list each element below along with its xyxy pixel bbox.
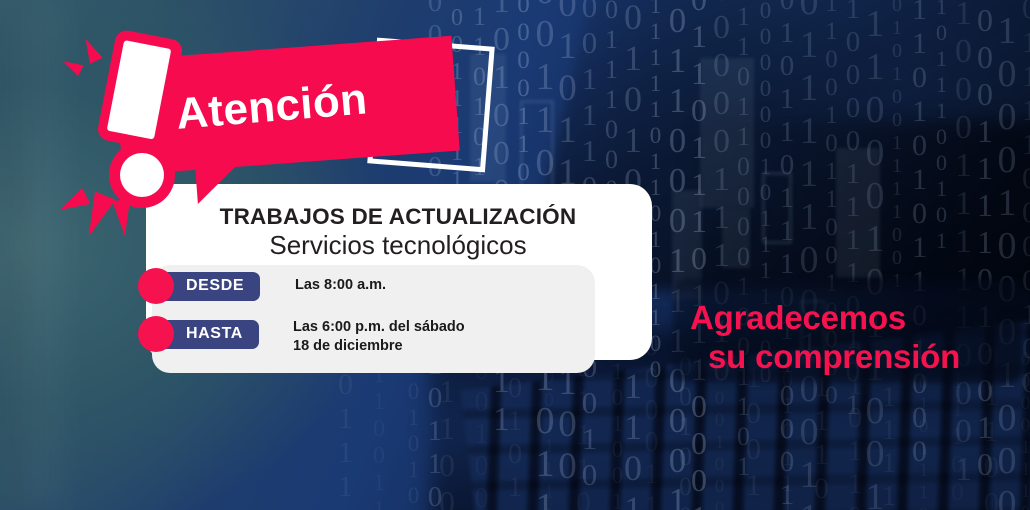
badge-desde-label: DESDE <box>186 277 244 295</box>
background-lightbox-outline-2 <box>762 172 792 244</box>
card-title-line2: Servicios tecnológicos <box>188 230 608 260</box>
card-title-line1: TRABAJOS DE ACTUALIZACIÓN <box>188 204 608 230</box>
exclamation-dot <box>109 142 175 208</box>
schedule-row-desde: DESDE <box>138 268 260 304</box>
schedule-value-hasta-line2: 18 de diciembre <box>293 337 465 356</box>
background-lightbox-2 <box>700 58 754 208</box>
schedule-row-hasta: HASTA <box>138 316 259 352</box>
thanks-message-line1: Agradecemos <box>690 299 906 336</box>
thanks-message-line2: su comprensión <box>708 337 1020 376</box>
attention-banner: 1000000110101011011100000111111011111111… <box>0 0 1030 510</box>
exclamation-bar-inner <box>107 40 172 139</box>
exclamation-mark-icon <box>88 34 218 209</box>
badge-hasta-label: HASTA <box>186 325 243 343</box>
exclamation-dot-inner <box>120 153 164 197</box>
background-lightbox-4 <box>722 208 750 268</box>
exclamation-bar <box>96 29 184 152</box>
background-lightbox-outline-1 <box>520 100 554 192</box>
burst-ray-bottom-3 <box>112 199 134 237</box>
schedule-value-hasta: Las 6:00 p.m. del sábado 18 de diciembre <box>293 318 465 356</box>
thanks-message: Agradecemos su comprensión <box>690 298 1020 376</box>
card-title: TRABAJOS DE ACTUALIZACIÓN Servicios tecn… <box>188 204 608 260</box>
bullet-dot-icon <box>138 268 174 304</box>
schedule-value-desde: Las 8:00 a.m. <box>295 276 386 295</box>
background-lightbox-5 <box>836 148 880 278</box>
bullet-dot-icon <box>138 316 174 352</box>
schedule-value-hasta-line1: Las 6:00 p.m. del sábado <box>293 318 465 337</box>
